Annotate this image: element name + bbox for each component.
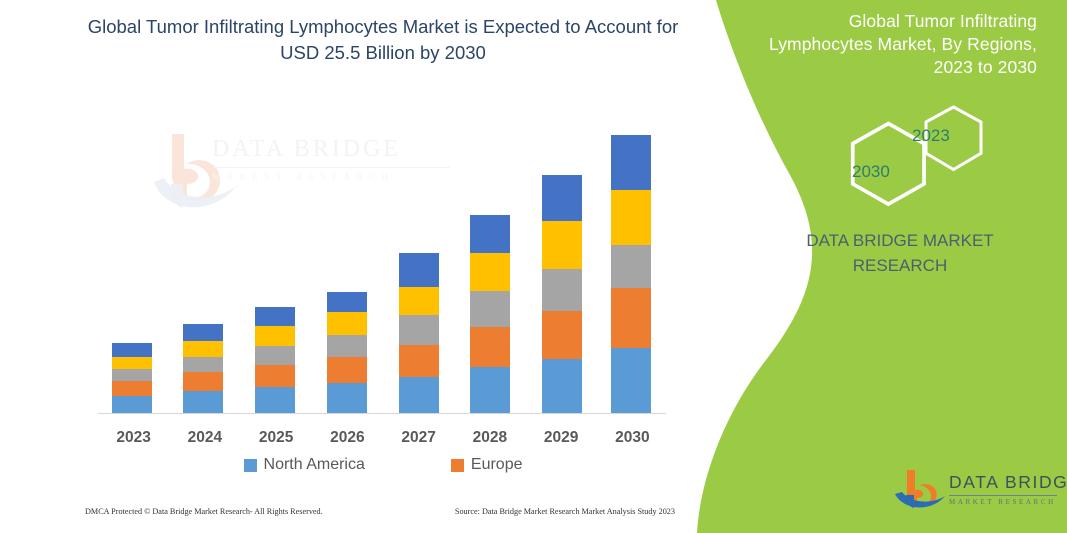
bar-segment-2027-europe [399, 345, 439, 377]
bar-segment-2030-north-america [611, 348, 651, 413]
page-title: Global Tumor Infiltrating Lymphocytes Ma… [78, 14, 688, 66]
bar-segment-2024-middle-east-africa [183, 324, 223, 341]
bar-segment-2030-middle-east-africa [611, 135, 651, 190]
bar-segment-2025-europe [255, 365, 295, 387]
bar-2023 [112, 343, 152, 413]
x-tick-2027: 2027 [383, 429, 454, 453]
bar-segment-2026-asia-pacific [327, 335, 367, 357]
bar-segment-2030-asia-pacific [611, 245, 651, 288]
bar-segment-2027-asia-pacific [399, 315, 439, 345]
bar-segment-2023-north-america [112, 396, 152, 413]
panel-title: Global Tumor Infiltrating Lymphocytes Ma… [762, 10, 1037, 79]
bar-segment-2028-asia-pacific [470, 291, 510, 327]
footer-source: Source: Data Bridge Market Research Mark… [455, 507, 675, 516]
stacked-bar-chart [0, 0, 700, 533]
bar-segment-2029-asia-pacific [542, 269, 582, 311]
chart-legend: North AmericaEurope [98, 456, 668, 474]
bar-segment-2023-asia-pacific [112, 369, 152, 381]
legend-label: North America [264, 456, 365, 474]
brand-logo-divider [949, 495, 1057, 496]
bar-segment-2024-europe [183, 372, 223, 391]
bar-segment-2027-middle-east-africa [399, 253, 439, 287]
bar-segment-2027-south-america [399, 287, 439, 315]
bar-segment-2024-north-america [183, 391, 223, 413]
bar-segment-2029-south-america [542, 221, 582, 269]
watermark-main: DATA BRIDGE [212, 136, 462, 163]
hexagon-2030-label: 2030 [852, 162, 890, 182]
bar-segment-2023-middle-east-africa [112, 343, 152, 357]
legend-item-europe[interactable]: Europe [451, 456, 523, 474]
infographic-canvas: Global Tumor Infiltrating Lymphocytes Ma… [0, 0, 1067, 533]
x-tick-2030: 2030 [597, 429, 668, 453]
bar-segment-2024-south-america [183, 341, 223, 357]
footer: DMCA Protected © Data Bridge Market Rese… [85, 507, 675, 516]
brand-logo-main: DATA BRIDGE [949, 472, 1067, 493]
bar-segment-2026-south-america [327, 312, 367, 335]
bar-segment-2026-north-america [327, 383, 367, 413]
brand-logo-sub: MARKET RESEARCH [949, 498, 1067, 506]
x-tick-2029: 2029 [526, 429, 597, 453]
panel-brand-text: DATA BRIDGE MARKET RESEARCH [760, 228, 1040, 278]
brand-logo-mark-icon [893, 468, 947, 514]
x-tick-2028: 2028 [454, 429, 525, 453]
hexagon-2023-label: 2023 [912, 126, 950, 146]
bar-2029 [542, 175, 582, 413]
bar-2028 [470, 215, 510, 413]
brand-logo-text: DATA BRIDGE MARKET RESEARCH [949, 472, 1067, 506]
watermark-text: DATA BRIDGE MARKET RESEARCH [212, 136, 462, 183]
legend-item-north-america[interactable]: North America [244, 456, 365, 474]
bar-segment-2024-asia-pacific [183, 357, 223, 372]
bar-segment-2023-europe [112, 381, 152, 396]
bar-segment-2025-south-america [255, 326, 295, 346]
bar-segment-2030-europe [611, 288, 651, 348]
x-tick-2024: 2024 [169, 429, 240, 453]
bar-2024 [183, 324, 223, 413]
watermark-logo-icon [150, 126, 260, 276]
bar-segment-2029-north-america [542, 359, 582, 413]
bar-2025 [255, 307, 295, 413]
bar-segment-2026-middle-east-africa [327, 292, 367, 312]
bar-segment-2029-europe [542, 311, 582, 359]
brand-logo: DATA BRIDGE MARKET RESEARCH [893, 468, 1058, 516]
bar-2027 [399, 253, 439, 413]
footer-copyright: DMCA Protected © Data Bridge Market Rese… [85, 507, 323, 516]
bar-segment-2028-south-america [470, 253, 510, 291]
bar-segment-2025-north-america [255, 387, 295, 413]
watermark-sub: MARKET RESEARCH [212, 173, 462, 183]
bar-segment-2025-asia-pacific [255, 346, 295, 365]
bar-segment-2023-south-america [112, 357, 152, 369]
bar-segment-2028-europe [470, 327, 510, 367]
bar-segment-2027-north-america [399, 377, 439, 413]
x-tick-2025: 2025 [241, 429, 312, 453]
legend-swatch-icon [244, 459, 257, 472]
bar-segment-2025-middle-east-africa [255, 307, 295, 326]
x-tick-2023: 2023 [98, 429, 169, 453]
bar-segment-2026-europe [327, 357, 367, 383]
bar-segment-2030-south-america [611, 190, 651, 245]
bar-segment-2028-north-america [470, 367, 510, 413]
legend-label: Europe [471, 456, 523, 474]
bar-segment-2029-middle-east-africa [542, 175, 582, 221]
hexagon-group: 2030 2023 [826, 104, 986, 216]
watermark: DATA BRIDGE MARKET RESEARCH [150, 126, 450, 276]
watermark-divider [214, 167, 450, 168]
bars-group [112, 135, 651, 413]
x-axis-labels: 20232024202520262027202820292030 [98, 429, 668, 453]
legend-swatch-icon [451, 459, 464, 472]
bar-segment-2028-middle-east-africa [470, 215, 510, 253]
bar-2026 [327, 292, 367, 413]
x-tick-2026: 2026 [312, 429, 383, 453]
bar-2030 [611, 135, 651, 413]
